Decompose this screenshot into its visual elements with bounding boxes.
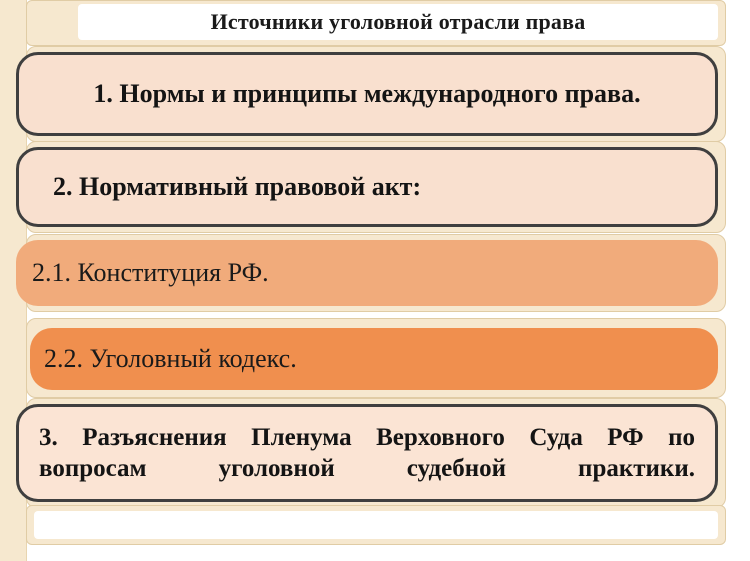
item-2-1-box[interactable]: 2.1. Конституция РФ. [16, 240, 718, 306]
item-2-2-label: 2.2. Уголовный кодекс. [44, 344, 297, 374]
item-2-1-label: 2.1. Конституция РФ. [32, 258, 269, 288]
bottom-white-plate [34, 511, 718, 539]
item-1-box[interactable]: 1. Нормы и принципы международного права… [16, 52, 718, 136]
item-2-label: 2. Нормативный правовой акт: [53, 172, 421, 202]
item-3-box[interactable]: 3. Разъяснения Пленума Верховного Суда Р… [16, 404, 718, 502]
item-2-box[interactable]: 2. Нормативный правовой акт: [16, 147, 718, 227]
slide-title-box: Источники уголовной отрасли права [78, 4, 718, 40]
slide-canvas: Источники уголовной отрасли права 1. Нор… [0, 0, 750, 561]
item-1-label: 1. Нормы и принципы международного права… [93, 79, 640, 109]
item-3-label: 3. Разъяснения Пленума Верховного Суда Р… [39, 422, 695, 485]
page-title: Источники уголовной отрасли права [211, 9, 586, 35]
item-2-2-box[interactable]: 2.2. Уголовный кодекс. [30, 328, 718, 390]
